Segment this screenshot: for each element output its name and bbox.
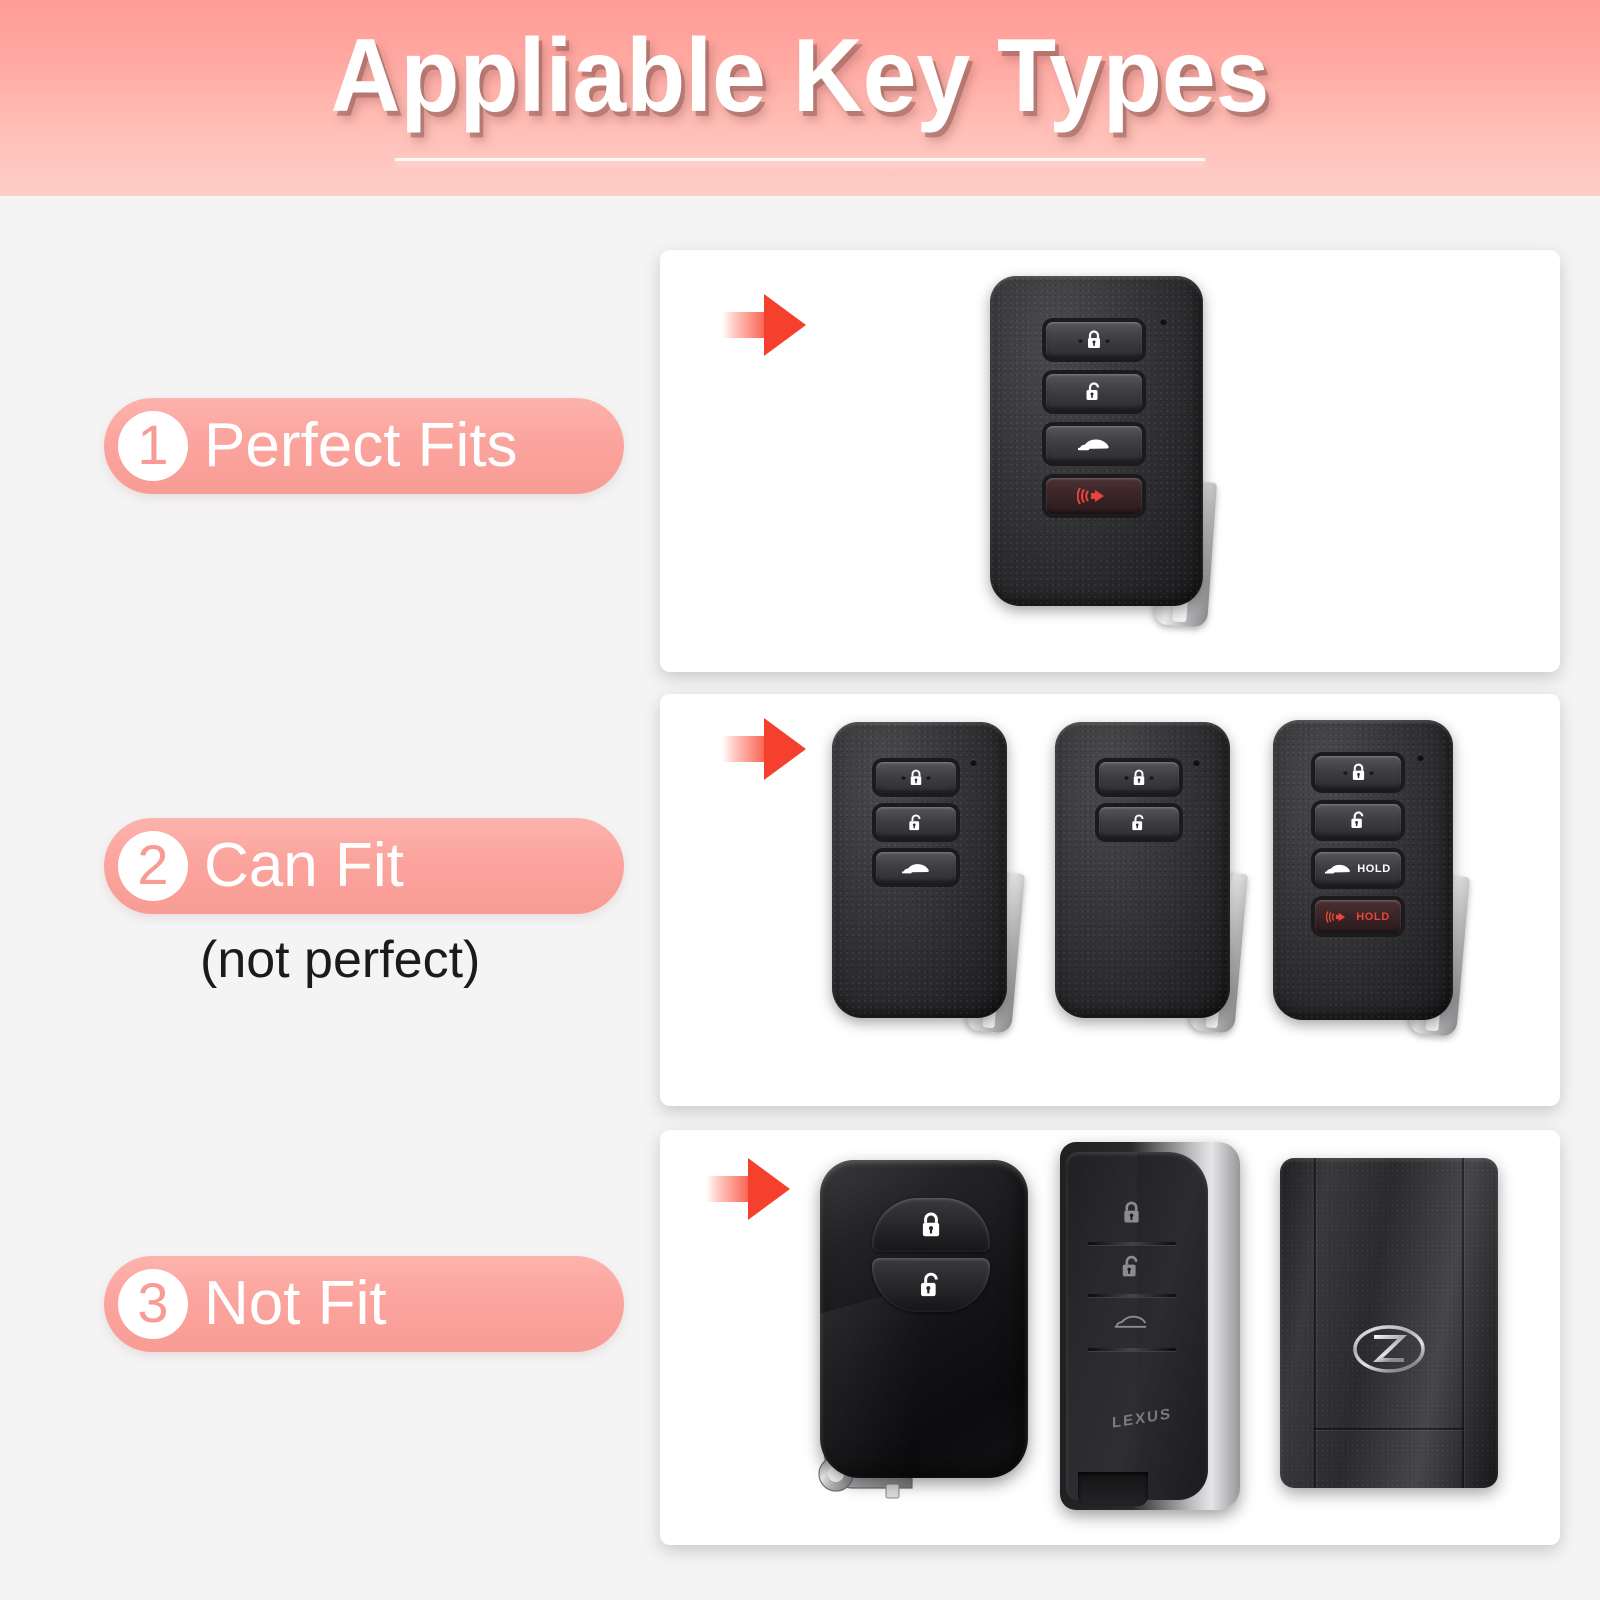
panic-hold-button[interactable]: HOLD xyxy=(1315,900,1401,933)
key-fob-4-button-hold[interactable]: HOLD HOLD xyxy=(1273,720,1453,1020)
lock-button[interactable] xyxy=(1046,322,1142,358)
key-fob-new-gen[interactable]: LEXUS xyxy=(1060,1142,1240,1510)
page-title: Appliable Key Types xyxy=(56,22,1544,131)
led-indicator xyxy=(1417,754,1424,761)
open-padlock-icon xyxy=(1085,382,1103,402)
lock-button[interactable] xyxy=(872,1198,990,1252)
key-fob-4-button[interactable] xyxy=(990,276,1203,606)
trunk-button[interactable] xyxy=(1100,1306,1162,1336)
section-label-1: 1 Perfect Fits xyxy=(104,398,624,494)
lexus-l-emblem-icon xyxy=(1352,1324,1426,1374)
pill-badge-can-fit[interactable]: 2 Can Fit xyxy=(104,818,624,914)
section-label-2: 2 Can Fit (not perfect) xyxy=(104,818,624,990)
open-padlock-icon xyxy=(919,1272,943,1299)
trunk-button[interactable] xyxy=(876,852,956,883)
trunk-button[interactable] xyxy=(1046,426,1142,462)
closed-padlock-icon xyxy=(1132,769,1146,787)
pill-badge-perfect-fits[interactable]: 1 Perfect Fits xyxy=(104,398,624,494)
panic-button[interactable] xyxy=(1046,478,1142,514)
unlock-button[interactable] xyxy=(1046,374,1142,410)
lock-button[interactable] xyxy=(876,762,956,793)
key-card[interactable] xyxy=(1280,1158,1498,1488)
header-banner: Appliable Key Types xyxy=(0,0,1600,196)
card-body xyxy=(1280,1158,1498,1488)
key-panel-not-fit: LEXUS xyxy=(660,1130,1560,1545)
unlock-button[interactable] xyxy=(1099,807,1179,838)
car-trunk-icon xyxy=(1325,862,1351,875)
pill-number: 3 xyxy=(118,1269,188,1339)
panic-horn-icon xyxy=(1326,910,1350,924)
right-arrow-icon xyxy=(722,718,806,780)
card-seam-right xyxy=(1462,1158,1464,1488)
key-fob-3-button[interactable] xyxy=(832,722,1007,1018)
key-panel-can-fit: HOLD HOLD xyxy=(660,694,1560,1106)
unlock-button[interactable] xyxy=(1315,804,1401,837)
unlock-button[interactable] xyxy=(1100,1252,1162,1282)
section-note: (not perfect) xyxy=(200,930,624,990)
right-arrow-icon xyxy=(706,1158,790,1220)
lock-button[interactable] xyxy=(1315,756,1401,789)
key-fob-2-button[interactable] xyxy=(1055,722,1230,1018)
card-seam-left xyxy=(1314,1158,1316,1488)
section-label-3: 3 Not Fit xyxy=(104,1256,624,1352)
car-trunk-icon xyxy=(1114,1313,1148,1330)
closed-padlock-icon xyxy=(1122,1201,1141,1225)
led-indicator xyxy=(970,759,977,766)
infographic-page: Appliable Key Types 1 Perfect Fits 2 Can… xyxy=(0,0,1600,1600)
key-fob-old-glossy[interactable] xyxy=(820,1160,1028,1478)
oval-button-pad xyxy=(872,1198,990,1314)
closed-padlock-icon xyxy=(1351,763,1366,782)
pill-number: 2 xyxy=(118,831,188,901)
hold-label: HOLD xyxy=(1356,911,1390,923)
pill-label: Can Fit xyxy=(204,835,404,897)
pill-number: 1 xyxy=(118,411,188,481)
lock-button[interactable] xyxy=(1099,762,1179,793)
key-release-notch xyxy=(1078,1472,1148,1506)
panic-horn-icon xyxy=(1077,487,1111,505)
pill-badge-not-fit[interactable]: 3 Not Fit xyxy=(104,1256,624,1352)
open-padlock-icon xyxy=(1350,811,1367,830)
title-underline xyxy=(395,158,1205,161)
closed-padlock-icon xyxy=(909,769,923,787)
led-indicator xyxy=(1193,759,1200,766)
led-indicator xyxy=(1160,318,1167,325)
key-panel-perfect-fits xyxy=(660,250,1560,672)
card-seam-bottom xyxy=(1314,1428,1464,1430)
closed-padlock-icon xyxy=(1086,330,1102,350)
lock-button[interactable] xyxy=(1100,1198,1162,1228)
open-padlock-icon xyxy=(1121,1255,1142,1279)
open-padlock-icon xyxy=(1131,814,1147,832)
trunk-hold-button[interactable]: HOLD xyxy=(1315,852,1401,885)
pill-label: Not Fit xyxy=(204,1273,387,1335)
car-trunk-icon xyxy=(902,861,930,875)
pill-label: Perfect Fits xyxy=(204,415,518,477)
unlock-button[interactable] xyxy=(876,807,956,838)
hold-label: HOLD xyxy=(1357,863,1391,875)
closed-padlock-icon xyxy=(920,1212,942,1239)
open-padlock-icon xyxy=(908,814,924,832)
right-arrow-icon xyxy=(722,294,806,356)
unlock-button[interactable] xyxy=(872,1258,990,1312)
car-trunk-icon xyxy=(1078,436,1110,452)
